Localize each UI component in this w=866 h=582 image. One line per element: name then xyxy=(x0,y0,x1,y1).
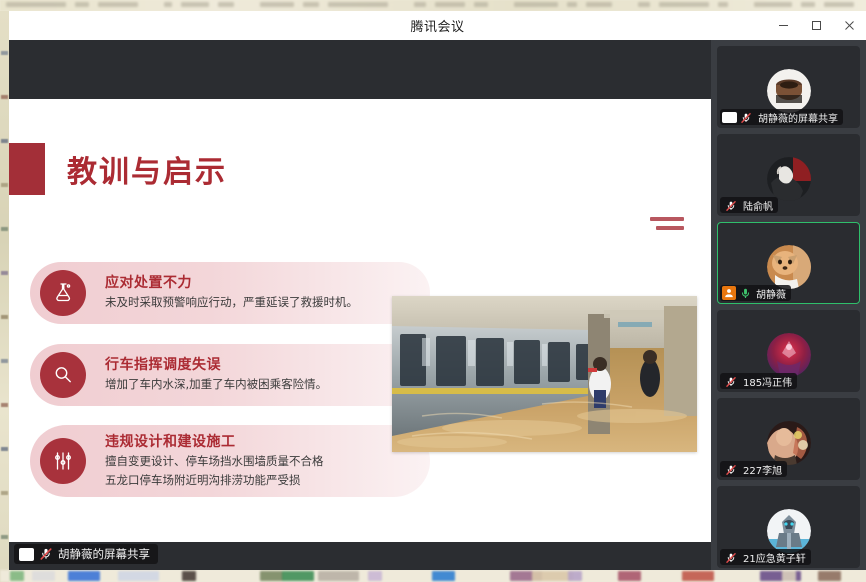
participant-name: 227李旭 xyxy=(743,462,782,477)
presentation-slide: 教训与启示 应对处置不力 未及时采取预警响应行动，严重延误了救援时机。 xyxy=(9,99,711,542)
screen-share-icon xyxy=(722,112,737,123)
avatar xyxy=(767,157,811,201)
point-title: 行车指挥调度失误 xyxy=(105,357,327,375)
mic-muted-icon xyxy=(725,199,739,211)
point-line: 擅自变更设计、停车场挡水围墙质量不合格 xyxy=(105,453,324,470)
share-label-text: 胡静薇的屏幕共享 xyxy=(58,546,150,562)
screen-share-icon xyxy=(19,548,34,561)
avatar xyxy=(767,333,811,377)
participant-namebar: 陆俞帆 xyxy=(720,197,778,213)
participant-namebar: 胡静薇的屏幕共享 xyxy=(720,109,843,125)
magnifier-icon xyxy=(40,352,86,398)
participant-namebar: 21应急黄子轩 xyxy=(720,549,811,565)
point-line: 增加了车内水深,加重了车内被困乘客险情。 xyxy=(105,376,327,393)
participant-namebar: 胡静薇 xyxy=(720,285,791,301)
participant-tile[interactable]: 陆俞帆 xyxy=(717,134,860,216)
mic-muted-icon xyxy=(725,551,739,563)
participant-name: 胡静薇的屏幕共享 xyxy=(758,110,838,125)
point-title: 违规设计和建设施工 xyxy=(105,434,324,452)
participant-name: 胡静薇 xyxy=(756,286,786,301)
title-decoration-lines xyxy=(650,217,684,235)
mic-muted-icon xyxy=(725,463,739,475)
participant-name: 陆俞帆 xyxy=(743,198,773,213)
participant-tile[interactable]: 227李旭 xyxy=(717,398,860,480)
participant-tile[interactable]: 185冯正伟 xyxy=(717,310,860,392)
page-title: 教训与启示 xyxy=(67,147,227,191)
participant-tile-active[interactable]: 胡静薇 xyxy=(717,222,860,304)
mic-on-icon xyxy=(739,287,752,300)
participant-name: 21应急黄子轩 xyxy=(743,550,806,565)
maximize-icon[interactable] xyxy=(800,11,833,40)
flask-icon xyxy=(40,270,86,316)
sliders-icon xyxy=(40,438,86,484)
window-controls xyxy=(767,11,866,40)
mic-muted-icon xyxy=(725,375,739,387)
title-bar: 腾讯会议 xyxy=(9,11,866,40)
screen-share-label: 胡静薇的屏幕共享 xyxy=(14,544,158,564)
point-line: 五龙口停车场附近明沟排涝功能严受损 xyxy=(105,472,324,489)
avatar xyxy=(767,421,811,465)
background-bottom-taskbar xyxy=(0,570,866,582)
participant-tile[interactable]: 21应急黄子轩 xyxy=(717,486,860,568)
minimize-icon[interactable] xyxy=(767,11,800,40)
slide-title-row: 教训与启示 xyxy=(9,143,227,195)
flooded-subway-photo xyxy=(392,296,697,452)
avatar xyxy=(767,69,811,113)
mic-muted-icon xyxy=(39,547,53,561)
avatar xyxy=(767,245,811,289)
mic-muted-icon xyxy=(740,111,754,123)
participant-name: 185冯正伟 xyxy=(743,374,792,389)
participant-namebar: 227李旭 xyxy=(720,461,787,477)
slide-point-3: 违规设计和建设施工 擅自变更设计、停车场挡水围墙质量不合格 五龙口停车场附近明沟… xyxy=(30,425,430,497)
background-top-taskbar xyxy=(0,0,866,11)
point-title: 应对处置不力 xyxy=(105,275,358,293)
title-accent-block xyxy=(9,143,45,195)
avatar xyxy=(767,509,811,553)
close-icon[interactable] xyxy=(833,11,866,40)
host-badge-icon xyxy=(722,286,736,300)
point-line: 未及时采取预警响应行动，严重延误了救援时机。 xyxy=(105,294,358,311)
tencent-meeting-window: 腾讯会议 教训与启示 xyxy=(9,11,866,570)
slide-point-2: 行车指挥调度失误 增加了车内水深,加重了车内被困乘客险情。 xyxy=(30,344,430,406)
shared-screen-stage[interactable]: 教训与启示 应对处置不力 未及时采取预警响应行动，严重延误了救援时机。 xyxy=(9,40,711,570)
participants-panel[interactable]: 胡静薇的屏幕共享 xyxy=(711,40,866,570)
participant-tile[interactable]: 胡静薇的屏幕共享 xyxy=(717,46,860,128)
participant-namebar: 185冯正伟 xyxy=(720,373,797,389)
slide-point-1: 应对处置不力 未及时采取预警响应行动，严重延误了救援时机。 xyxy=(30,262,430,324)
background-left-edge xyxy=(0,11,9,582)
window-title: 腾讯会议 xyxy=(410,16,464,35)
